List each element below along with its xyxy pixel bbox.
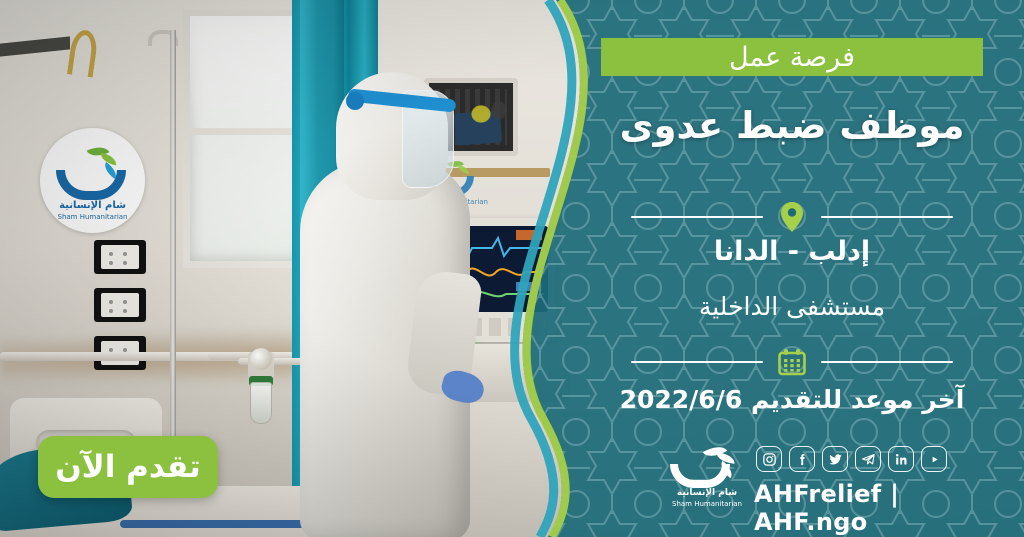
hand-icon — [670, 464, 730, 488]
job-vacancy-poster: شام الإنسانية Sham Humanitarian Sham Hum… — [0, 0, 1024, 537]
social-handle: AHFrelief | AHF.ngo — [754, 480, 988, 536]
facebook-icon[interactable] — [789, 446, 815, 472]
apply-now-button[interactable]: تقدم الآن — [38, 436, 218, 498]
job-facility: مستشفى الداخلية — [601, 292, 983, 321]
separator-line — [821, 216, 953, 218]
separator-line — [631, 361, 763, 363]
telegram-icon[interactable] — [855, 446, 881, 472]
separator-line — [821, 361, 953, 363]
twitter-icon[interactable] — [822, 446, 848, 472]
separator-line — [631, 216, 763, 218]
job-opportunity-banner: فرصة عمل — [601, 38, 983, 76]
banner-label: فرصة عمل — [729, 44, 855, 71]
instagram-icon[interactable] — [756, 446, 782, 472]
org-name-ar: شام الإنسانية — [668, 488, 746, 498]
application-deadline: آخر موعد للتقديم 2022/6/6 — [601, 385, 983, 414]
footer: شام الإنسانية Sham Humanitarian — [668, 440, 988, 520]
job-title: موظف ضبط عدوى — [601, 104, 983, 147]
leaf-icon — [716, 452, 736, 464]
youtube-icon[interactable] — [921, 446, 947, 472]
org-name-en: Sham Humanitarian — [668, 500, 746, 508]
linkedin-icon[interactable] — [888, 446, 914, 472]
location-separator — [601, 200, 983, 234]
org-logo: شام الإنسانية Sham Humanitarian — [668, 444, 746, 510]
social-links — [756, 446, 947, 472]
job-location: إدلب - الدانا — [601, 236, 983, 267]
date-separator — [601, 345, 983, 379]
map-pin-icon — [775, 200, 809, 234]
calendar-icon — [775, 345, 809, 379]
apply-now-label: تقدم الآن — [55, 449, 201, 485]
